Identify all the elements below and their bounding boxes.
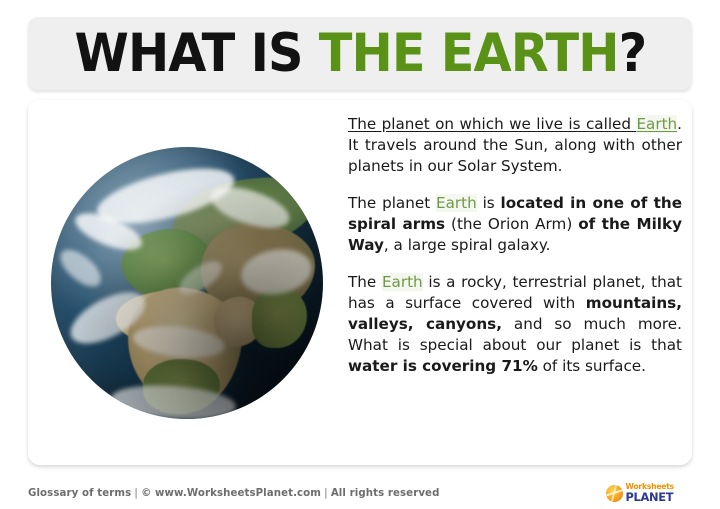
definition-earth-keyword: Earth	[636, 115, 677, 133]
title-part-what-is: WHAT IS	[74, 23, 318, 84]
earth-illustration	[32, 118, 342, 448]
footer-credits: Glossary of terms|© www.WorksheetsPlanet…	[28, 488, 439, 499]
logo-planet-text: PLANET	[626, 492, 675, 503]
paragraph-location: The planet Earth is located in one of th…	[348, 193, 682, 256]
logo-wordmark: Worksheets PLANET	[626, 483, 675, 503]
location-orion-arm: (the Orion Arm)	[445, 215, 578, 233]
location-is: is	[477, 194, 501, 212]
title-banner: WHAT IS THE EARTH?	[28, 17, 692, 90]
earth-clouds	[51, 147, 323, 419]
composition-tail: of its surface.	[538, 357, 646, 375]
definition-text-column: The planet on which we live is called Ea…	[348, 114, 684, 377]
footer: Glossary of terms|© www.WorksheetsPlanet…	[28, 482, 692, 504]
title-part-the-earth: THE EARTH	[318, 23, 618, 84]
footer-separator-1: |	[131, 488, 141, 499]
website-link[interactable]: www.WorksheetsPlanet.com	[155, 488, 321, 499]
composition-water-bold: water is covering 71%	[348, 357, 538, 375]
location-tail: , a large spiral galaxy.	[384, 236, 551, 254]
footer-separator-2: |	[321, 488, 331, 499]
definition-underlined-lead: The planet on which we live is called	[348, 115, 636, 133]
earth-globe-icon	[51, 147, 323, 419]
title-question-mark: ?	[618, 23, 646, 84]
composition-lead: The	[348, 273, 382, 291]
planet-logo-icon	[606, 485, 623, 502]
paragraph-definition: The planet on which we live is called Ea…	[348, 114, 682, 177]
location-earth-keyword: Earth	[436, 194, 477, 212]
paragraph-composition: The Earth is a rocky, terrestrial planet…	[348, 272, 682, 377]
content-card: The planet on which we live is called Ea…	[28, 100, 692, 465]
glossary-link[interactable]: Glossary of terms	[28, 488, 131, 499]
rights-reserved-text: All rights reserved	[331, 488, 440, 499]
copyright-icon: ©	[141, 488, 151, 499]
worksheets-planet-logo[interactable]: Worksheets PLANET	[606, 483, 675, 503]
page-title: WHAT IS THE EARTH?	[74, 27, 646, 80]
composition-earth-keyword: Earth	[382, 273, 423, 291]
location-lead: The planet	[348, 194, 436, 212]
